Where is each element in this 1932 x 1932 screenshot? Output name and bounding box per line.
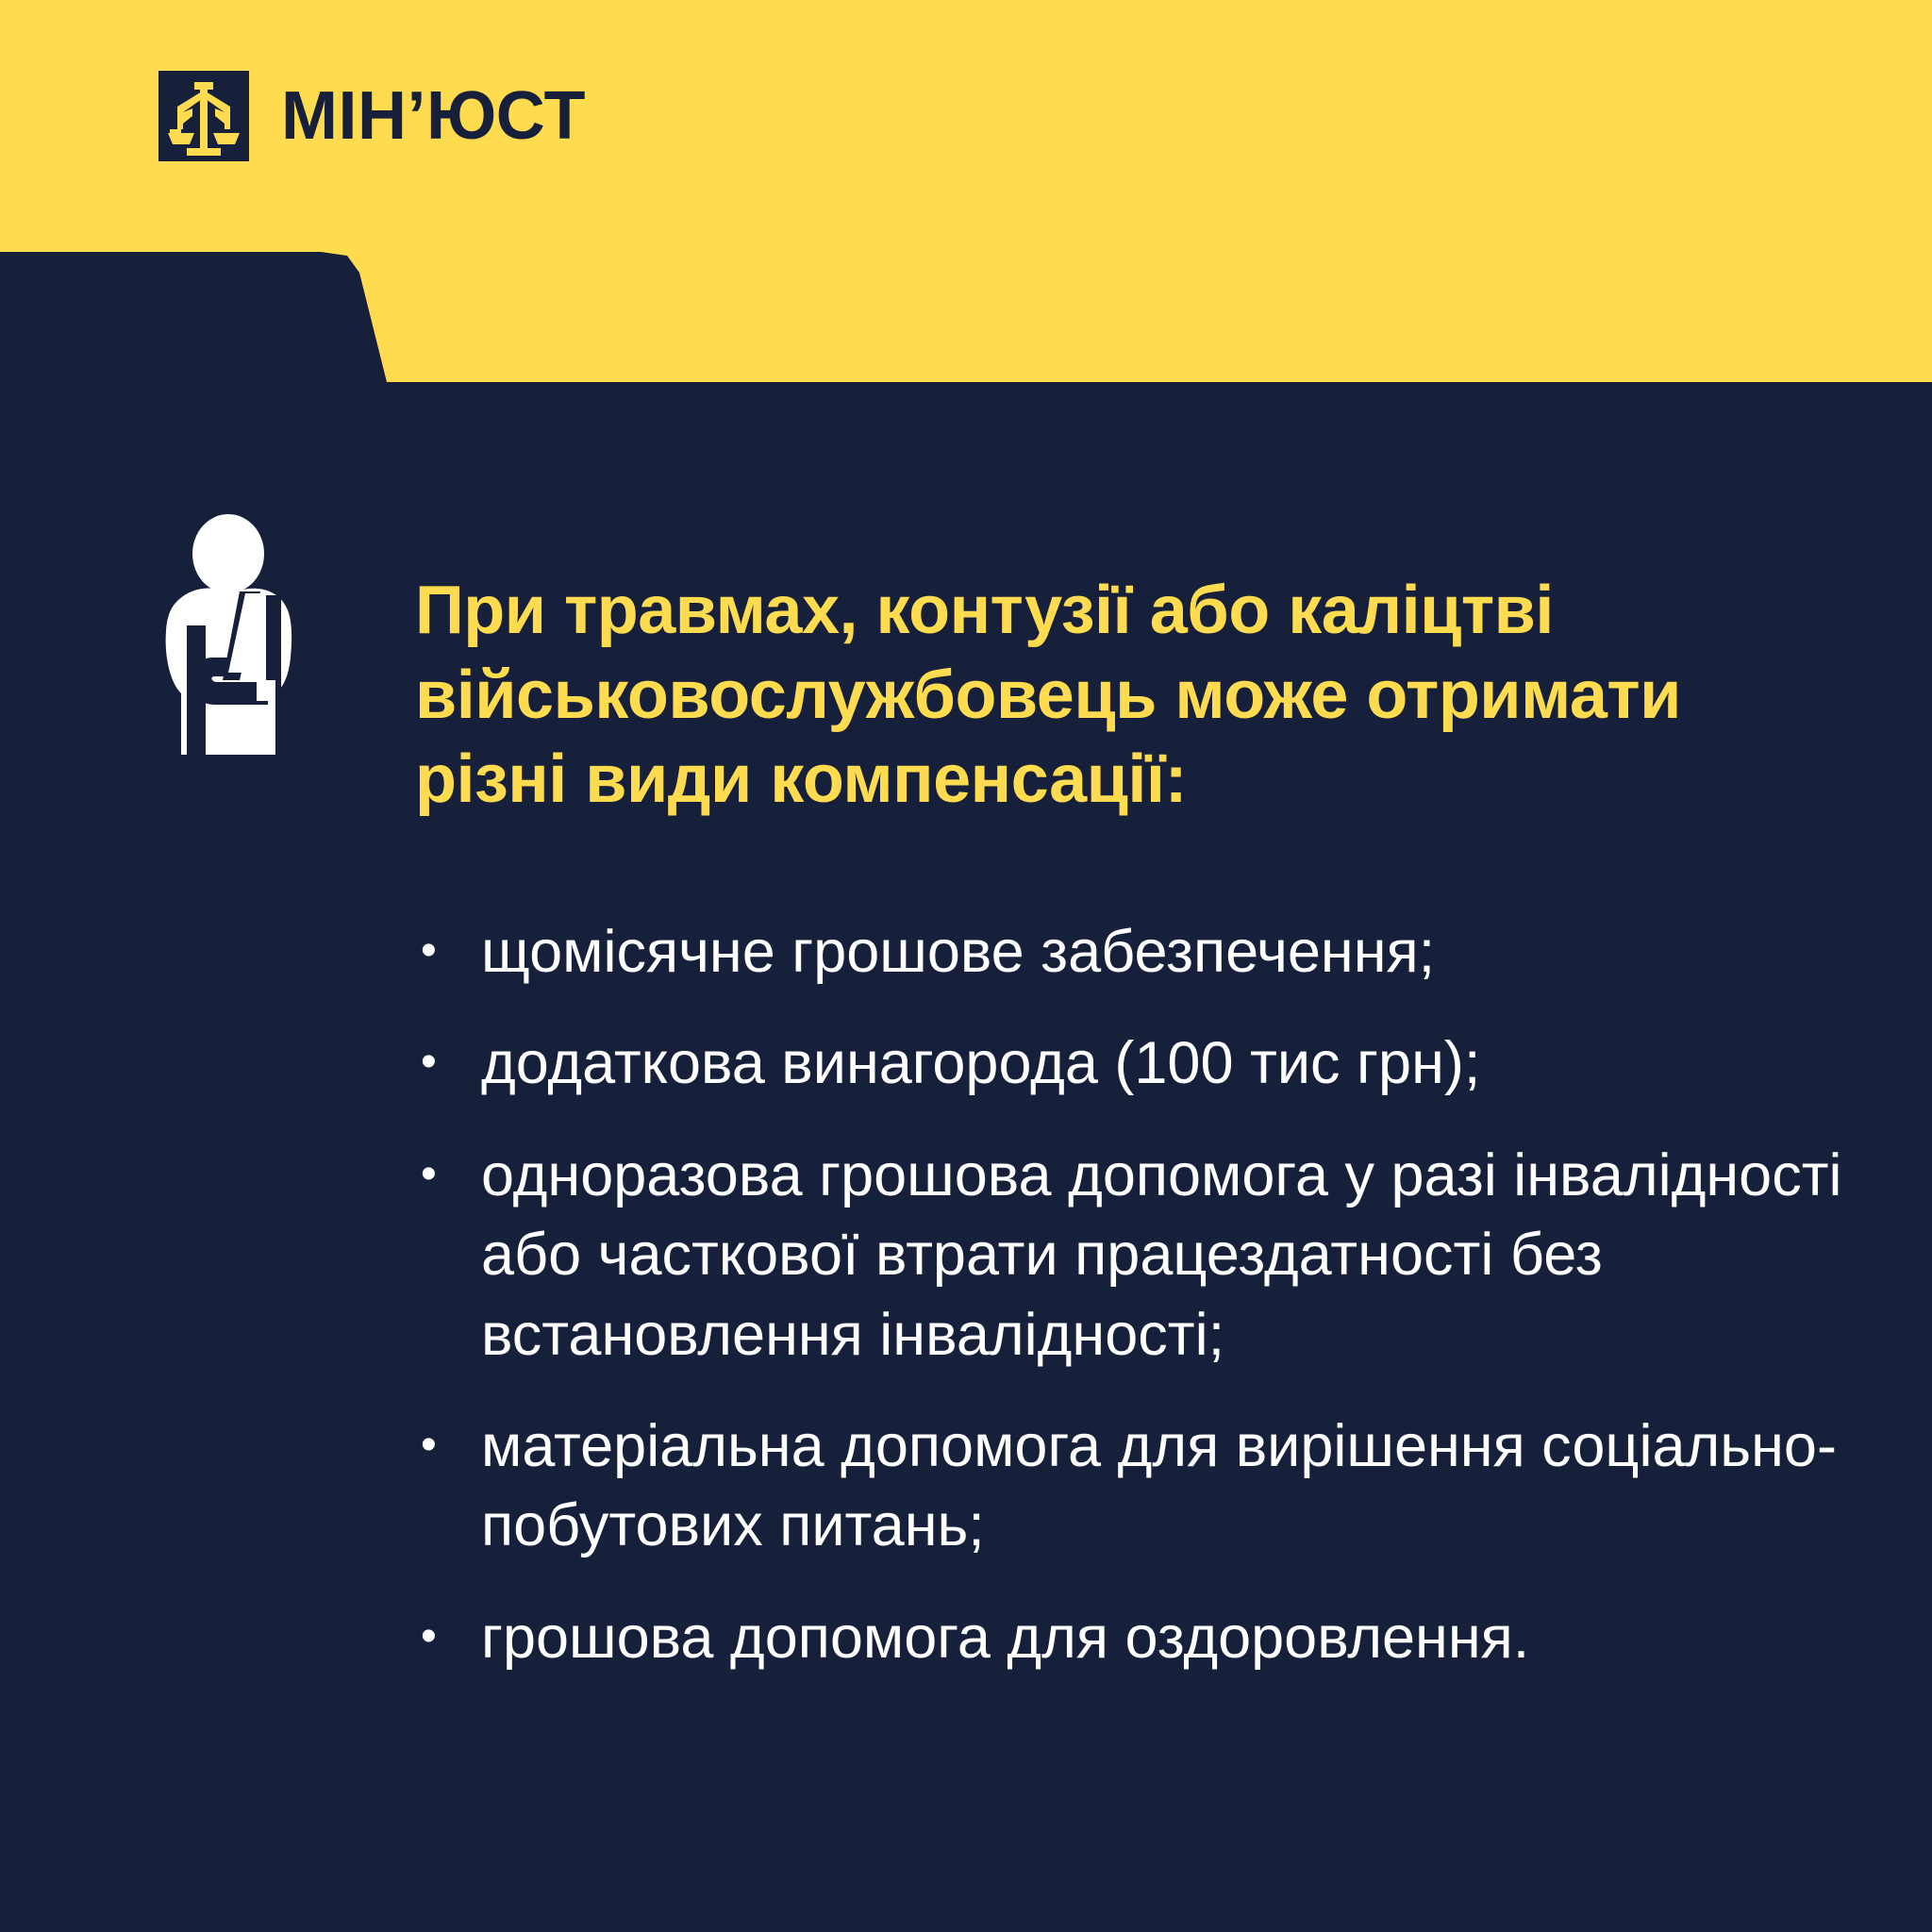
list-item-label: додаткова винагорода (100 тис грн); — [481, 1024, 1857, 1103]
brand-wordmark: МІН’ЮСТ — [281, 82, 586, 150]
list-item: • грошова допомога для оздоровлення. — [413, 1598, 1857, 1677]
list-item: • одноразова грошова допомога у разі інв… — [413, 1136, 1857, 1374]
list-item-label: одноразова грошова допомога у разі інвал… — [481, 1136, 1857, 1374]
bullet-marker-icon: • — [413, 1598, 481, 1676]
brand-logo-lockup: МІН’ЮСТ — [158, 71, 586, 161]
folder-tab-notch — [0, 252, 396, 382]
list-item-label: матеріальна допомога для вирішення соціа… — [481, 1407, 1857, 1566]
list-item: • матеріальна допомога для вирішення соц… — [413, 1407, 1857, 1566]
bullet-marker-icon: • — [413, 1407, 481, 1485]
content-area: При травмах, контузії або каліцтві війсь… — [0, 382, 1932, 1932]
scales-of-justice-icon — [158, 71, 249, 161]
list-item: • щомісячне грошове забезпечення; — [413, 912, 1857, 991]
bullet-marker-icon: • — [413, 912, 481, 991]
list-item-label: щомісячне грошове забезпечення; — [481, 912, 1857, 991]
compensation-list: • щомісячне грошове забезпечення; • дода… — [413, 912, 1857, 1677]
list-item: • додаткова винагорода (100 тис грн); — [413, 1024, 1857, 1103]
bullet-marker-icon: • — [413, 1136, 481, 1214]
bullet-marker-icon: • — [413, 1024, 481, 1102]
list-item-label: грошова допомога для оздоровлення. — [481, 1598, 1857, 1677]
injured-person-arm-sling-icon — [142, 514, 316, 755]
infographic-poster: МІН’ЮСТ — [0, 0, 1932, 1932]
page-title: При травмах, контузії або каліцтві війсь… — [415, 569, 1830, 822]
